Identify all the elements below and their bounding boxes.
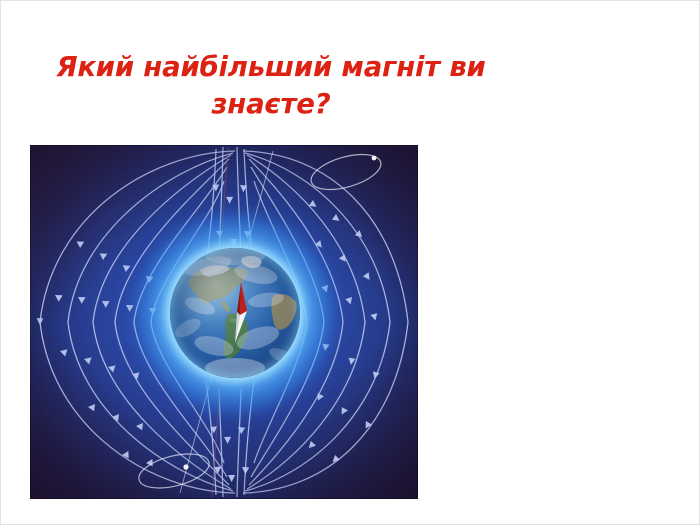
magnetic-field-image[interactable]	[30, 145, 418, 499]
page-title: Який найбільший магніт ви знаєте?	[23, 49, 519, 124]
south-pole-ring	[128, 441, 220, 499]
north-pole-ring	[302, 145, 392, 201]
slide: Який найбільший магніт ви знаєте?	[0, 0, 700, 525]
compass-needle	[228, 281, 250, 345]
